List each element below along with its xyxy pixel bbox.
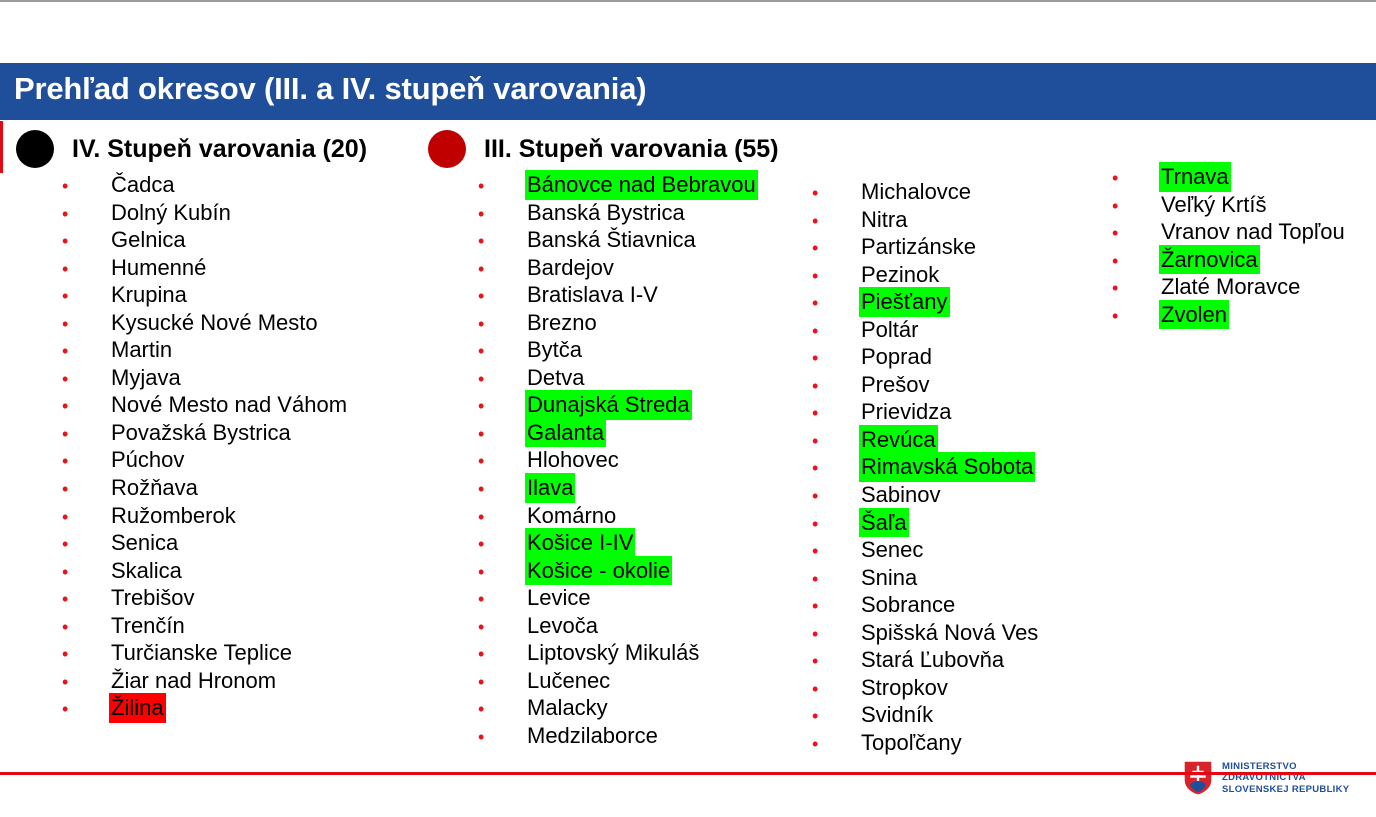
district-list-item: Detva — [478, 363, 758, 391]
bullet-icon — [62, 669, 109, 697]
district-list-item: Trenčín — [62, 611, 349, 639]
bullet-icon — [62, 228, 109, 256]
bullet-icon — [62, 476, 109, 504]
district-name: Humenné — [109, 253, 208, 283]
district-name: Košice - okolie — [525, 556, 672, 586]
district-column-2: Bánovce nad BebravouBanská BystricaBansk… — [478, 170, 758, 748]
district-name: Turčianske Teplice — [109, 638, 294, 668]
bullet-icon — [812, 703, 859, 731]
district-list-item: Partizánske — [812, 232, 1040, 260]
bullet-icon — [478, 696, 525, 724]
district-name: Bratislava I-V — [525, 280, 660, 310]
bullet-icon — [812, 566, 859, 594]
district-name: Sabinov — [859, 480, 943, 510]
bullet-icon — [478, 476, 525, 504]
bullet-icon — [1112, 275, 1159, 303]
bullet-icon — [1112, 220, 1159, 248]
district-name: Žilina — [109, 693, 166, 723]
district-name: Snina — [859, 563, 919, 593]
bullet-icon — [62, 283, 109, 311]
district-list-item: Nové Mesto nad Váhom — [62, 390, 349, 418]
district-list-item: Poprad — [812, 342, 1040, 370]
district-name: Spišská Nová Ves — [859, 618, 1040, 648]
district-name: Trenčín — [109, 611, 187, 641]
district-name: Liptovský Mikuláš — [525, 638, 701, 668]
legend-level-4: IV. Stupeň varovania (20) — [16, 130, 367, 168]
district-list-item: Brezno — [478, 308, 758, 336]
district-name: Lučenec — [525, 666, 612, 696]
district-list-item: Pezinok — [812, 260, 1040, 288]
district-list-item: Ilava — [478, 473, 758, 501]
district-name: Košice I-IV — [525, 528, 635, 558]
legend-level-3: III. Stupeň varovania (55) — [428, 130, 779, 168]
bullet-icon — [478, 393, 525, 421]
district-list-item: Stará Ľubovňa — [812, 645, 1040, 673]
district-list-item: Čadca — [62, 170, 349, 198]
district-name: Malacky — [525, 693, 610, 723]
district-list-item: Medzilaborce — [478, 721, 758, 749]
district-name: Ružomberok — [109, 501, 238, 531]
district-list-item: Bánovce nad Bebravou — [478, 170, 758, 198]
district-list-item: Svidník — [812, 700, 1040, 728]
title-banner: Prehľad okresov (III. a IV. stupeň varov… — [0, 63, 1376, 120]
bullet-icon — [1112, 248, 1159, 276]
district-name: Rimavská Sobota — [859, 452, 1035, 482]
district-name: Púchov — [109, 445, 186, 475]
district-list-item: Stropkov — [812, 673, 1040, 701]
district-name: Bánovce nad Bebravou — [525, 170, 758, 200]
bullet-icon — [478, 421, 525, 449]
district-list-item: Senica — [62, 528, 349, 556]
district-list-item: Hlohovec — [478, 445, 758, 473]
district-name: Martin — [109, 335, 174, 365]
district-list-item: Púchov — [62, 445, 349, 473]
district-list-item: Banská Bystrica — [478, 198, 758, 226]
district-column-1: ČadcaDolný KubínGelnicaHumennéKrupinaKys… — [62, 170, 349, 721]
bullet-icon — [62, 256, 109, 284]
bullet-icon — [812, 400, 859, 428]
ministry-logo: MINISTERSTVO ZDRAVOTNÍCTVA SLOVENSKEJ RE… — [1183, 754, 1369, 802]
district-name: Svidník — [859, 700, 935, 730]
bullet-icon — [478, 559, 525, 587]
bullet-icon — [812, 235, 859, 263]
district-list-item: Zlaté Moravce — [1112, 272, 1347, 300]
district-name: Dunajská Streda — [525, 390, 692, 420]
district-list-item: Liptovský Mikuláš — [478, 638, 758, 666]
slide: Prehľad okresov (III. a IV. stupeň varov… — [0, 0, 1376, 817]
district-list-item: Krupina — [62, 280, 349, 308]
district-name: Poltár — [859, 315, 920, 345]
bullet-icon — [478, 338, 525, 366]
bullet-icon — [812, 676, 859, 704]
slovak-coat-of-arms-shield-icon — [1183, 760, 1213, 796]
district-name: Trebišov — [109, 583, 197, 613]
bullet-icon — [62, 531, 109, 559]
district-name: Topoľčany — [859, 728, 964, 758]
bullet-icon — [812, 455, 859, 483]
district-name: Žarnovica — [1159, 245, 1260, 275]
district-list-item: Rožňava — [62, 473, 349, 501]
district-list-item: Trnava — [1112, 162, 1347, 190]
district-name: Považská Bystrica — [109, 418, 293, 448]
district-name: Michalovce — [859, 177, 973, 207]
district-name: Stropkov — [859, 673, 950, 703]
bullet-icon — [62, 641, 109, 669]
bullet-icon — [812, 373, 859, 401]
district-list-item: Ružomberok — [62, 501, 349, 529]
district-list-item: Skalica — [62, 556, 349, 584]
district-name: Prievidza — [859, 397, 953, 427]
district-list-item: Banská Štiavnica — [478, 225, 758, 253]
district-name: Partizánske — [859, 232, 978, 262]
district-list-item: Gelnica — [62, 225, 349, 253]
district-name: Galanta — [525, 418, 606, 448]
district-name: Senec — [859, 535, 925, 565]
district-column-4: TrnavaVeľký KrtíšVranov nad TopľouŽarnov… — [1112, 162, 1347, 327]
district-name: Veľký Krtíš — [1159, 190, 1268, 220]
district-list-item: Komárno — [478, 501, 758, 529]
district-name: Revúca — [859, 425, 938, 455]
district-list-item: Sabinov — [812, 480, 1040, 508]
district-list-item: Lučenec — [478, 666, 758, 694]
district-list-item: Piešťany — [812, 287, 1040, 315]
bullet-icon — [812, 428, 859, 456]
district-list-item: Kysucké Nové Mesto — [62, 308, 349, 336]
district-list-item: Trebišov — [62, 583, 349, 611]
district-list-item: Martin — [62, 335, 349, 363]
district-list-item: Veľký Krtíš — [1112, 190, 1347, 218]
district-name: Krupina — [109, 280, 189, 310]
district-name: Vranov nad Topľou — [1159, 217, 1347, 247]
district-list-item: Prievidza — [812, 397, 1040, 425]
district-list-item: Dolný Kubín — [62, 198, 349, 226]
ministry-logo-line3: SLOVENSKEJ REPUBLIKY — [1222, 784, 1349, 796]
district-list-item: Spišská Nová Ves — [812, 618, 1040, 646]
bullet-icon — [1112, 193, 1159, 221]
district-list-item: Senec — [812, 535, 1040, 563]
district-list-item: Turčianske Teplice — [62, 638, 349, 666]
bullet-icon — [62, 448, 109, 476]
red-circle-icon — [428, 130, 466, 168]
district-list-item: Galanta — [478, 418, 758, 446]
district-name: Levice — [525, 583, 593, 613]
bullet-icon — [62, 421, 109, 449]
district-name: Pezinok — [859, 260, 941, 290]
bullet-icon — [812, 345, 859, 373]
district-name: Nové Mesto nad Váhom — [109, 390, 349, 420]
district-column-3: MichalovceNitraPartizánskePezinokPiešťan… — [812, 177, 1040, 755]
bullet-icon — [62, 338, 109, 366]
district-name: Gelnica — [109, 225, 188, 255]
bullet-icon — [812, 593, 859, 621]
bullet-icon — [478, 311, 525, 339]
bottom-red-rule — [0, 772, 1376, 775]
bullet-icon — [62, 559, 109, 587]
bullet-icon — [478, 504, 525, 532]
district-list-item: Malacky — [478, 693, 758, 721]
district-list-item: Levoča — [478, 611, 758, 639]
district-list-item: Myjava — [62, 363, 349, 391]
district-name: Skalica — [109, 556, 184, 586]
district-name: Čadca — [109, 170, 177, 200]
district-name: Levoča — [525, 611, 600, 641]
district-name: Senica — [109, 528, 180, 558]
bullet-icon — [812, 263, 859, 291]
page-title: Prehľad okresov (III. a IV. stupeň varov… — [14, 71, 646, 107]
bullet-icon — [812, 180, 859, 208]
district-name: Kysucké Nové Mesto — [109, 308, 320, 338]
bullet-icon — [62, 311, 109, 339]
district-list-item: Bardejov — [478, 253, 758, 281]
district-list-item: Žilina — [62, 693, 349, 721]
district-list-item: Dunajská Streda — [478, 390, 758, 418]
bullet-icon — [62, 393, 109, 421]
bullet-icon — [478, 614, 525, 642]
district-list-item: Michalovce — [812, 177, 1040, 205]
bullet-icon — [478, 724, 525, 752]
bullet-icon — [812, 648, 859, 676]
district-list-item: Žarnovica — [1112, 245, 1347, 273]
district-list-item: Topoľčany — [812, 728, 1040, 756]
bullet-icon — [62, 696, 109, 724]
bullet-icon — [812, 621, 859, 649]
district-list-item: Žiar nad Hronom — [62, 666, 349, 694]
bullet-icon — [478, 201, 525, 229]
district-name: Piešťany — [859, 287, 950, 317]
bullet-icon — [478, 448, 525, 476]
district-list-item: Rimavská Sobota — [812, 452, 1040, 480]
bullet-icon — [812, 483, 859, 511]
district-name: Žiar nad Hronom — [109, 666, 278, 696]
district-list-item: Nitra — [812, 205, 1040, 233]
bullet-icon — [1112, 303, 1159, 331]
bullet-icon — [478, 283, 525, 311]
district-name: Trnava — [1159, 162, 1231, 192]
bullet-icon — [812, 511, 859, 539]
bullet-icon — [812, 208, 859, 236]
bullet-icon — [1112, 165, 1159, 193]
district-list-item: Poltár — [812, 315, 1040, 343]
bullet-icon — [478, 228, 525, 256]
bullet-icon — [812, 318, 859, 346]
district-name: Šaľa — [859, 508, 909, 538]
bullet-icon — [62, 614, 109, 642]
district-name: Medzilaborce — [525, 721, 660, 751]
bullet-icon — [62, 366, 109, 394]
bullet-icon — [62, 201, 109, 229]
district-name: Poprad — [859, 342, 934, 372]
bullet-icon — [478, 173, 525, 201]
bullet-icon — [478, 641, 525, 669]
bullet-icon — [812, 290, 859, 318]
district-name: Stará Ľubovňa — [859, 645, 1006, 675]
district-list-item: Košice - okolie — [478, 556, 758, 584]
ministry-logo-line1: MINISTERSTVO — [1222, 761, 1349, 773]
district-name: Rožňava — [109, 473, 200, 503]
district-name: Sobrance — [859, 590, 957, 620]
legend-level-3-label: III. Stupeň varovania (55) — [484, 135, 779, 164]
ministry-logo-text: MINISTERSTVO ZDRAVOTNÍCTVA SLOVENSKEJ RE… — [1222, 761, 1349, 796]
district-name: Prešov — [859, 370, 931, 400]
left-red-accent — [0, 121, 3, 173]
district-list-item: Revúca — [812, 425, 1040, 453]
district-name: Banská Bystrica — [525, 198, 687, 228]
district-list-item: Sobrance — [812, 590, 1040, 618]
bullet-icon — [478, 669, 525, 697]
district-name: Bytča — [525, 335, 584, 365]
district-list-item: Košice I-IV — [478, 528, 758, 556]
district-name: Ilava — [525, 473, 575, 503]
district-list-item: Levice — [478, 583, 758, 611]
district-name: Detva — [525, 363, 586, 393]
district-name: Komárno — [525, 501, 618, 531]
district-name: Hlohovec — [525, 445, 621, 475]
black-circle-icon — [16, 130, 54, 168]
district-list-item: Považská Bystrica — [62, 418, 349, 446]
district-name: Zvolen — [1159, 300, 1229, 330]
district-name: Zlaté Moravce — [1159, 272, 1302, 302]
district-list-item: Humenné — [62, 253, 349, 281]
district-list-item: Zvolen — [1112, 300, 1347, 328]
district-list-item: Šaľa — [812, 508, 1040, 536]
bullet-icon — [62, 586, 109, 614]
bullet-icon — [478, 366, 525, 394]
district-name: Dolný Kubín — [109, 198, 233, 228]
bullet-icon — [478, 531, 525, 559]
district-list-item: Snina — [812, 563, 1040, 591]
district-name: Myjava — [109, 363, 183, 393]
district-name: Bardejov — [525, 253, 616, 283]
bullet-icon — [812, 731, 859, 759]
bullet-icon — [478, 256, 525, 284]
district-list-item: Vranov nad Topľou — [1112, 217, 1347, 245]
district-list-item: Prešov — [812, 370, 1040, 398]
bullet-icon — [62, 173, 109, 201]
bullet-icon — [478, 586, 525, 614]
district-list-item: Bytča — [478, 335, 758, 363]
district-name: Brezno — [525, 308, 599, 338]
bullet-icon — [62, 504, 109, 532]
legend-level-4-label: IV. Stupeň varovania (20) — [72, 135, 367, 164]
district-list-item: Bratislava I-V — [478, 280, 758, 308]
district-name: Nitra — [859, 205, 909, 235]
district-name: Banská Štiavnica — [525, 225, 698, 255]
bullet-icon — [812, 538, 859, 566]
